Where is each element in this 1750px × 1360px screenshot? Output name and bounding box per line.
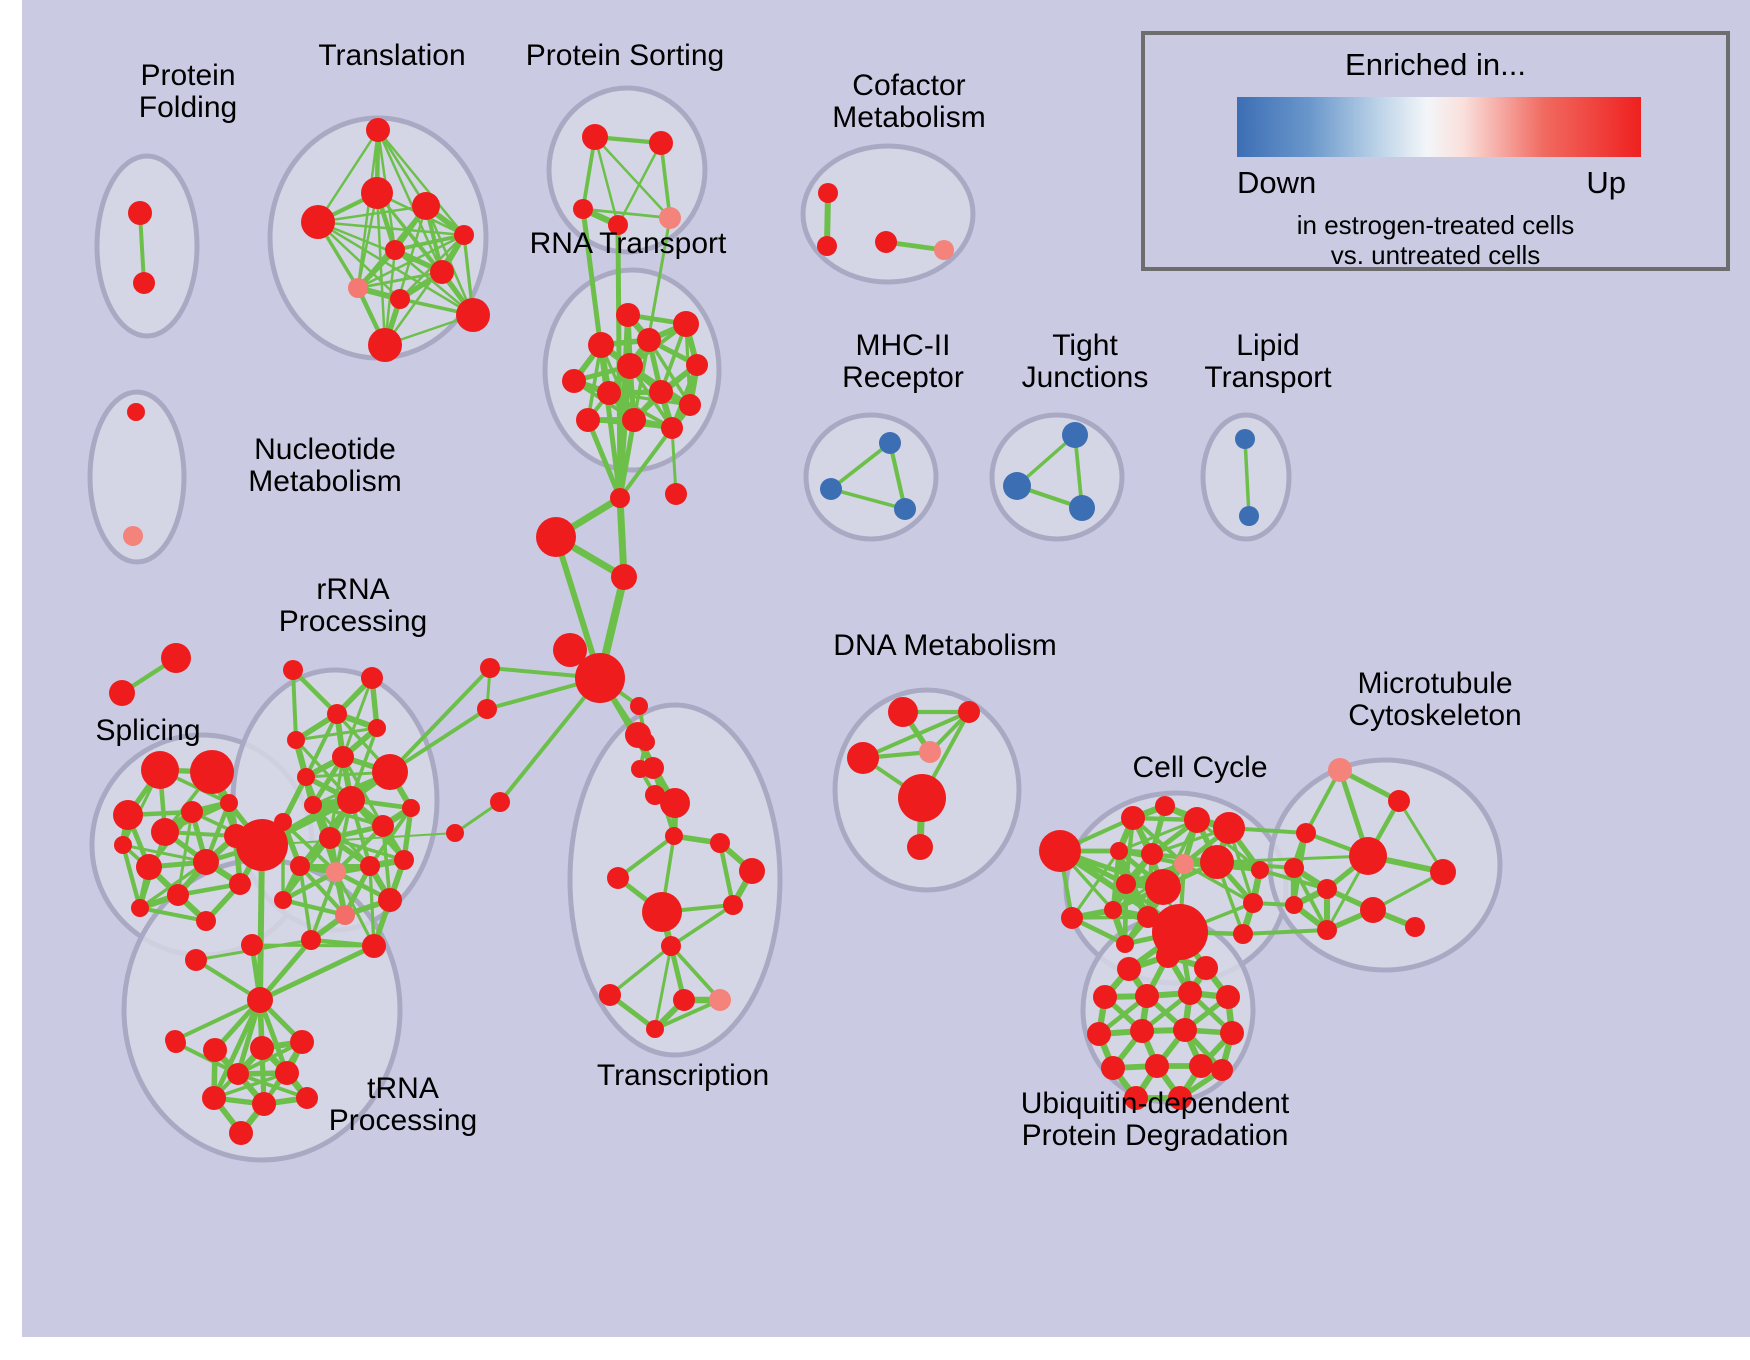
- network-node[interactable]: [1116, 874, 1136, 894]
- network-node[interactable]: [1430, 859, 1456, 885]
- cluster-label-cell-cycle: Cell Cycle: [1100, 752, 1300, 784]
- network-node[interactable]: [1235, 429, 1255, 449]
- network-node[interactable]: [283, 660, 303, 680]
- network-node[interactable]: [1388, 790, 1410, 812]
- network-node[interactable]: [1173, 1018, 1197, 1042]
- network-node[interactable]: [1349, 837, 1387, 875]
- network-node[interactable]: [290, 1030, 314, 1054]
- network-node[interactable]: [151, 818, 179, 846]
- network-node[interactable]: [402, 799, 420, 817]
- network-node[interactable]: [196, 911, 216, 931]
- network-node[interactable]: [181, 801, 203, 823]
- cluster-label-protein-sorting: Protein Sorting: [500, 40, 750, 72]
- network-node[interactable]: [1117, 957, 1141, 981]
- network-node[interactable]: [1121, 806, 1145, 830]
- network-node[interactable]: [247, 987, 273, 1013]
- network-node[interactable]: [723, 895, 743, 915]
- network-node[interactable]: [875, 231, 897, 253]
- network-node[interactable]: [665, 483, 687, 505]
- cluster-label-mhc-ii-receptor: MHC-II Receptor: [798, 330, 1008, 395]
- network-node[interactable]: [1360, 897, 1386, 923]
- network-node[interactable]: [167, 884, 189, 906]
- network-node[interactable]: [1101, 1056, 1125, 1080]
- network-node[interactable]: [631, 760, 649, 778]
- network-node[interactable]: [337, 786, 365, 814]
- network-node[interactable]: [368, 328, 402, 362]
- network-node[interactable]: [1156, 944, 1180, 968]
- network-node[interactable]: [1328, 758, 1352, 782]
- cluster-label-rna-transport: RNA Transport: [508, 228, 748, 260]
- network-node[interactable]: [335, 905, 355, 925]
- network-node[interactable]: [1216, 985, 1240, 1009]
- network-node[interactable]: [127, 403, 145, 421]
- network-node[interactable]: [1116, 935, 1134, 953]
- network-node[interactable]: [229, 873, 251, 895]
- network-node[interactable]: [113, 800, 143, 830]
- network-node[interactable]: [919, 741, 941, 763]
- network-node[interactable]: [710, 833, 730, 853]
- network-node[interactable]: [820, 478, 842, 500]
- network-node[interactable]: [1200, 845, 1234, 879]
- network-node[interactable]: [817, 236, 837, 256]
- cluster-label-translation: Translation: [272, 40, 512, 72]
- network-node[interactable]: [362, 934, 386, 958]
- network-node[interactable]: [1039, 830, 1081, 872]
- network-node[interactable]: [114, 836, 132, 854]
- cluster-label-tight-junctions: Tight Junctions: [985, 330, 1185, 395]
- network-node[interactable]: [934, 240, 954, 260]
- network-node[interactable]: [456, 298, 490, 332]
- network-node[interactable]: [739, 858, 765, 884]
- network-node[interactable]: [368, 719, 386, 737]
- network-node[interactable]: [898, 774, 946, 822]
- network-node[interactable]: [709, 989, 731, 1011]
- legend-color-bar: [1237, 97, 1641, 157]
- cluster-label-trna-processing: tRNA Processing: [298, 1073, 508, 1138]
- legend-title: Enriched in...: [1145, 47, 1726, 83]
- network-node[interactable]: [203, 1038, 227, 1062]
- cluster-label-lipid-transport: Lipid Transport: [1168, 330, 1368, 395]
- network-node[interactable]: [1069, 495, 1095, 521]
- network-node[interactable]: [894, 498, 916, 520]
- network-node[interactable]: [394, 850, 414, 870]
- network-node[interactable]: [301, 930, 321, 950]
- network-node[interactable]: [575, 653, 625, 703]
- network-node[interactable]: [190, 750, 234, 794]
- network-node[interactable]: [617, 353, 643, 379]
- network-node[interactable]: [582, 124, 608, 150]
- network-node[interactable]: [412, 192, 440, 220]
- network-node[interactable]: [1251, 861, 1269, 879]
- network-node[interactable]: [1174, 854, 1194, 874]
- network-node[interactable]: [673, 989, 695, 1011]
- network-node[interactable]: [888, 697, 918, 727]
- cluster-label-microtubule-cytoskeleton: Microtubule Cytoskeleton: [1305, 668, 1565, 733]
- network-node[interactable]: [1239, 506, 1259, 526]
- network-node[interactable]: [274, 813, 292, 831]
- network-node[interactable]: [165, 1030, 185, 1050]
- cluster-label-nucleotide-metabolism: Nucleotide Metabolism: [200, 434, 450, 499]
- network-node[interactable]: [1317, 879, 1337, 899]
- network-node[interactable]: [1194, 956, 1218, 980]
- network-node[interactable]: [607, 867, 629, 889]
- network-node[interactable]: [907, 834, 933, 860]
- network-node[interactable]: [366, 118, 390, 142]
- network-node[interactable]: [290, 856, 310, 876]
- network-node[interactable]: [1184, 807, 1210, 833]
- network-node[interactable]: [229, 1121, 253, 1145]
- network-node[interactable]: [1093, 985, 1117, 1009]
- network-node[interactable]: [227, 1063, 249, 1085]
- network-node[interactable]: [430, 260, 454, 284]
- network-node[interactable]: [1003, 472, 1031, 500]
- network-node[interactable]: [1213, 812, 1245, 844]
- network-node[interactable]: [348, 278, 368, 298]
- network-node[interactable]: [610, 488, 630, 508]
- legend-panel: Enriched in... Down Up in estrogen-treat…: [1141, 31, 1730, 271]
- network-node[interactable]: [642, 892, 682, 932]
- network-node[interactable]: [1135, 984, 1159, 1008]
- cluster-label-rrna-processing: rRNA Processing: [248, 574, 458, 639]
- network-node[interactable]: [536, 517, 576, 557]
- network-node[interactable]: [679, 394, 701, 416]
- network-node[interactable]: [616, 303, 640, 327]
- network-node[interactable]: [480, 658, 500, 678]
- network-node[interactable]: [1062, 422, 1088, 448]
- network-node[interactable]: [673, 311, 699, 337]
- figure-canvas: Protein FoldingTranslationProtein Sortin…: [0, 0, 1750, 1360]
- legend-down-label: Down: [1237, 165, 1316, 201]
- cluster-ellipse-mhc-ii-receptor: [806, 415, 936, 539]
- network-node[interactable]: [576, 408, 600, 432]
- network-node[interactable]: [274, 891, 292, 909]
- network-node[interactable]: [1296, 823, 1316, 843]
- network-node[interactable]: [287, 731, 305, 749]
- network-node[interactable]: [360, 856, 380, 876]
- network-node[interactable]: [1189, 1054, 1213, 1078]
- network-node[interactable]: [1061, 907, 1083, 929]
- network-node[interactable]: [202, 1086, 226, 1110]
- cluster-label-cofactor-metabolism: Cofactor Metabolism: [794, 70, 1024, 135]
- network-node[interactable]: [1317, 920, 1337, 940]
- network-node[interactable]: [1284, 858, 1304, 878]
- network-node[interactable]: [1285, 896, 1303, 914]
- network-node[interactable]: [573, 199, 593, 219]
- network-node[interactable]: [109, 680, 135, 706]
- network-node[interactable]: [220, 794, 238, 812]
- cluster-label-splicing: Splicing: [58, 715, 238, 747]
- network-node[interactable]: [319, 827, 341, 849]
- network-node[interactable]: [1178, 981, 1202, 1005]
- network-node[interactable]: [193, 849, 219, 875]
- network-node[interactable]: [686, 354, 708, 376]
- network-node[interactable]: [372, 815, 394, 837]
- network-node[interactable]: [123, 526, 143, 546]
- cluster-label-ubiquitin-degradation: Ubiquitin-dependent Protein Degradation: [990, 1088, 1320, 1153]
- network-node[interactable]: [1110, 842, 1128, 860]
- network-node[interactable]: [1087, 1022, 1111, 1046]
- network-node[interactable]: [141, 751, 179, 789]
- network-node[interactable]: [136, 854, 162, 880]
- network-node[interactable]: [599, 984, 621, 1006]
- network-node[interactable]: [611, 564, 637, 590]
- cluster-label-dna-metabolism: DNA Metabolism: [810, 630, 1080, 662]
- network-node[interactable]: [241, 934, 263, 956]
- network-node[interactable]: [477, 699, 497, 719]
- network-node[interactable]: [622, 408, 646, 432]
- network-node[interactable]: [1104, 901, 1122, 919]
- network-node[interactable]: [490, 792, 510, 812]
- network-node[interactable]: [361, 177, 393, 209]
- network-node[interactable]: [304, 796, 322, 814]
- network-node[interactable]: [847, 742, 879, 774]
- network-node[interactable]: [1155, 796, 1175, 816]
- network-node[interactable]: [645, 785, 665, 805]
- network-node[interactable]: [128, 201, 152, 225]
- network-node[interactable]: [637, 328, 661, 352]
- network-node[interactable]: [1145, 869, 1181, 905]
- network-node[interactable]: [250, 1036, 274, 1060]
- network-node[interactable]: [661, 936, 681, 956]
- network-node[interactable]: [1145, 1054, 1169, 1078]
- cluster-ellipse-protein-folding: [97, 156, 197, 336]
- network-node[interactable]: [649, 131, 673, 155]
- network-node[interactable]: [1130, 1019, 1154, 1043]
- network-node[interactable]: [646, 1020, 664, 1038]
- network-node[interactable]: [818, 183, 838, 203]
- legend-up-label: Up: [1586, 165, 1626, 201]
- network-node[interactable]: [1211, 1059, 1233, 1081]
- network-node[interactable]: [958, 701, 980, 723]
- network-node[interactable]: [1141, 843, 1163, 865]
- network-node[interactable]: [446, 824, 464, 842]
- network-node[interactable]: [332, 746, 354, 768]
- network-node[interactable]: [252, 1092, 276, 1116]
- network-node[interactable]: [327, 704, 347, 724]
- network-node[interactable]: [597, 381, 621, 405]
- network-node[interactable]: [133, 272, 155, 294]
- network-node[interactable]: [1243, 893, 1263, 913]
- network-node[interactable]: [649, 380, 673, 404]
- network-node[interactable]: [562, 369, 586, 393]
- network-node[interactable]: [1233, 924, 1253, 944]
- network-node[interactable]: [185, 949, 207, 971]
- network-node[interactable]: [372, 754, 408, 790]
- network-node[interactable]: [297, 768, 315, 786]
- network-node[interactable]: [630, 697, 648, 715]
- network-node[interactable]: [454, 225, 474, 245]
- network-node[interactable]: [361, 667, 383, 689]
- network-node[interactable]: [1220, 1021, 1244, 1045]
- network-node[interactable]: [659, 207, 681, 229]
- legend-subtitle: in estrogen-treated cells vs. untreated …: [1145, 211, 1726, 271]
- network-node[interactable]: [275, 1061, 299, 1085]
- network-node[interactable]: [661, 417, 683, 439]
- network-node[interactable]: [385, 240, 405, 260]
- network-node[interactable]: [665, 827, 683, 845]
- network-node[interactable]: [1405, 917, 1425, 937]
- cluster-label-protein-folding: Protein Folding: [88, 60, 288, 125]
- network-node[interactable]: [131, 899, 149, 917]
- network-node[interactable]: [378, 888, 402, 912]
- network-node[interactable]: [588, 332, 614, 358]
- network-node[interactable]: [301, 205, 335, 239]
- network-node[interactable]: [390, 289, 410, 309]
- network-node[interactable]: [637, 733, 655, 751]
- cluster-label-transcription: Transcription: [568, 1060, 798, 1092]
- network-node[interactable]: [879, 432, 901, 454]
- network-node[interactable]: [326, 862, 346, 882]
- network-node[interactable]: [161, 643, 191, 673]
